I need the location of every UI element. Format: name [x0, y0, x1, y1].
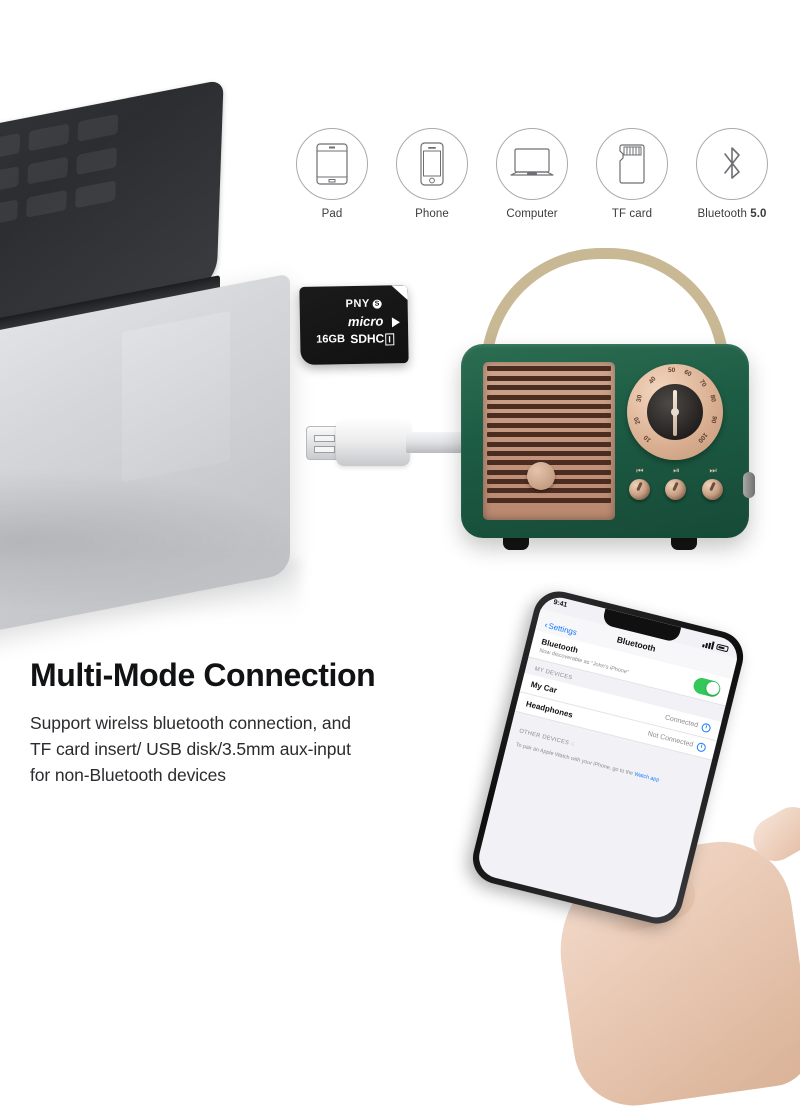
speaker-body: 50 60 70 80 90 100 10 20 30 40 — [461, 344, 749, 538]
dial-hub — [671, 408, 679, 416]
dial-number: 50 — [668, 367, 675, 374]
speaker-side-control — [743, 472, 755, 498]
bluetooth-toggle[interactable] — [692, 676, 722, 698]
dial-number: 40 — [648, 375, 658, 385]
dial-number: 30 — [636, 394, 644, 402]
compat-label-phone: Phone — [415, 208, 449, 220]
dial-number: 90 — [709, 415, 718, 424]
play-pause-icon: ⏯ — [673, 466, 678, 476]
play-pause-control[interactable]: ⏯ — [665, 466, 686, 500]
speaker-control-panel: 50 60 70 80 90 100 10 20 30 40 — [621, 362, 731, 520]
bluetooth-speaker-product: 50 60 70 80 90 100 10 20 30 40 — [455, 248, 755, 568]
compat-label-computer: Computer — [506, 208, 557, 220]
subcopy-line-2: TF card insert/ USB disk/3.5mm aux-input — [30, 737, 500, 763]
sd-capacity: 16GB — [316, 333, 345, 345]
info-icon[interactable]: i — [696, 742, 707, 753]
compat-item-pad: Pad — [282, 128, 382, 220]
micro-usb-connector — [306, 426, 340, 460]
product-marketing-image: Pad Phone Computer — [0, 0, 800, 1090]
compat-item-bluetooth: Bluetooth 5.0 — [682, 128, 782, 220]
cellular-signal-icon — [702, 639, 714, 649]
sd-corner-notch — [391, 285, 407, 300]
watch-app-link[interactable]: Watch app — [634, 771, 660, 783]
play-pause-knob[interactable] — [665, 479, 686, 500]
headline: Multi-Mode Connection — [30, 658, 500, 693]
dial-number: 80 — [708, 394, 716, 403]
device-status-text: Connected — [664, 714, 699, 729]
sd-format-text: SDHC — [350, 331, 384, 346]
tablet-icon — [296, 128, 368, 200]
sd-brand-text: PNY — [346, 298, 370, 310]
sd-speed-class: I — [385, 333, 394, 345]
dial-center — [647, 384, 703, 440]
surface-gradient — [0, 560, 300, 620]
info-icon[interactable]: i — [701, 722, 712, 733]
bluetooth-icon — [696, 128, 768, 200]
status-time: 9:41 — [551, 599, 568, 616]
loading-spinner-icon: ◌ — [570, 741, 575, 748]
compat-label-bluetooth: Bluetooth 5.0 — [697, 208, 766, 220]
sd-brand: PNYS — [346, 298, 382, 311]
bluetooth-version: 5.0 — [750, 208, 766, 220]
battery-icon — [716, 644, 729, 653]
sd-type: micro — [348, 313, 384, 329]
bluetooth-word: Bluetooth — [697, 208, 747, 220]
compat-label-pad: Pad — [322, 208, 343, 220]
device-name: My Car — [530, 680, 558, 695]
usb-connector-housing — [336, 420, 410, 466]
marketing-copy: Multi-Mode Connection Support wirelss bl… — [30, 658, 500, 789]
next-track-control[interactable]: ⏭ — [702, 466, 723, 500]
sd-format: SDHCI — [350, 331, 394, 346]
next-track-knob[interactable] — [702, 479, 723, 500]
compat-item-computer: Computer — [482, 128, 582, 220]
microsd-card-photo: PNYS micro 16GB SDHCI — [299, 285, 408, 365]
subcopy: Support wirelss bluetooth connection, an… — [30, 711, 500, 789]
subcopy-line-1: Support wirelss bluetooth connection, an… — [30, 711, 500, 737]
dial-number: 100 — [696, 431, 708, 444]
laptop-screen-reflection — [0, 99, 193, 256]
next-track-icon: ⏭ — [710, 466, 716, 476]
phone-icon — [396, 128, 468, 200]
compatibility-icon-strip: Pad Phone Computer — [282, 128, 782, 220]
previous-track-control[interactable]: ⏮ — [629, 466, 650, 500]
compat-label-tfcard: TF card — [612, 208, 652, 220]
compat-item-phone: Phone — [382, 128, 482, 220]
laptop-palmrest — [122, 311, 230, 482]
compat-item-tfcard: TF card — [582, 128, 682, 220]
sd-arrow-icon — [392, 317, 400, 327]
previous-track-knob[interactable] — [629, 479, 650, 500]
sd-brand-mark: S — [373, 300, 382, 309]
tuning-dial[interactable]: 50 60 70 80 90 100 10 20 30 40 — [627, 364, 723, 460]
dial-number: 10 — [643, 433, 653, 443]
dial-number: 70 — [698, 379, 708, 389]
laptop-icon — [496, 128, 568, 200]
dial-number: 20 — [633, 416, 642, 425]
previous-track-icon: ⏮ — [636, 466, 642, 476]
speaker-volume-knob[interactable] — [527, 462, 555, 490]
microsd-icon — [596, 128, 668, 200]
speaker-button-row: ⏮ ⏯ ⏭ — [621, 466, 731, 500]
dial-number: 60 — [683, 369, 693, 379]
subcopy-line-3: for non-Bluetooth devices — [30, 763, 500, 789]
speaker-grille — [483, 362, 615, 520]
